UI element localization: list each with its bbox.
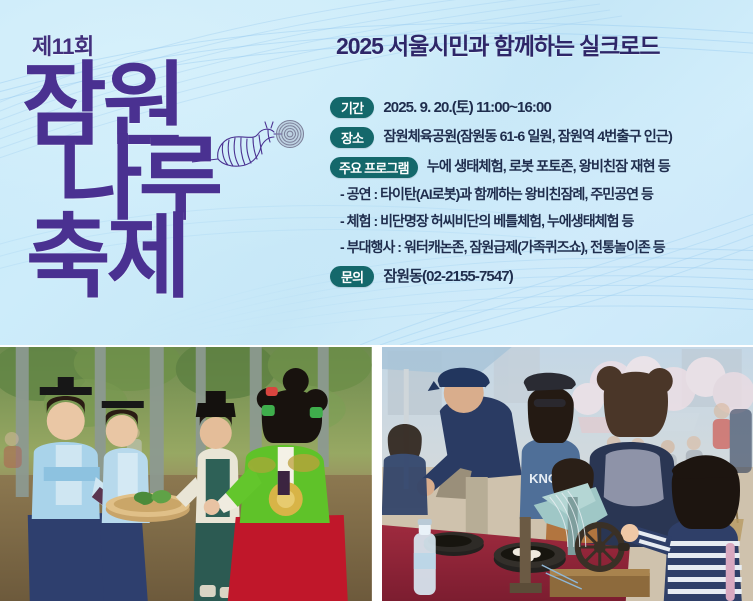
badge-main-programs: 주요 프로그램 [330, 157, 418, 178]
contact-value: 잠원동(02-2155-7547) [383, 269, 513, 286]
info-row-programs: 주요 프로그램 누에 생태체험, 로봇 포토존, 왕비친잠 재현 등 [330, 157, 742, 178]
poster-banner: 제11회 잠원 나루 축제 [0, 0, 753, 345]
poster-photo-strip: KNOW [0, 347, 753, 601]
festival-info-panel: 2025 서울시민과 함께하는 실크로드 기간 2025. 9. 20.(토) … [330, 34, 742, 296]
logo-line-chukje: 축제 [26, 218, 187, 299]
hanbok-royal-sericulture-ceremony-photo [0, 347, 372, 601]
info-row-venue: 장소 잠원체육공원(잠원동 61-6 일원, 잠원역 4번출구 인근) [330, 127, 742, 148]
program-detail-experience: - 체험 : 비단명장 허씨비단의 베틀체험, 누에생태체험 등 [340, 214, 742, 229]
silkworm-cocoon-icon [192, 104, 304, 180]
info-row-contact: 문의 잠원동(02-2155-7547) [330, 266, 742, 287]
main-programs-value: 누에 생태체험, 로봇 포토존, 왕비친잠 재현 등 [427, 160, 670, 176]
program-detail-side-events: - 부대행사 : 워터캐논존, 잠원급제(가족퀴즈쇼), 전통놀이존 등 [340, 240, 742, 255]
venue-value: 잠원체육공원(잠원동 61-6 일원, 잠원역 4번출구 인근) [383, 130, 672, 146]
badge-contact: 문의 [330, 266, 374, 287]
silk-reeling-demonstration-booth-photo: KNOW [382, 347, 753, 601]
program-detail-list: - 공연 : 타이탄(AI로봇)과 함께하는 왕비친잠례, 주민공연 등 - 체… [340, 187, 742, 255]
poster-headline: 2025 서울시민과 함께하는 실크로드 [336, 34, 742, 59]
info-row-period: 기간 2025. 9. 20.(토) 11:00~16:00 [330, 97, 742, 118]
program-detail-performance: - 공연 : 타이탄(AI로봇)과 함께하는 왕비친잠례, 주민공연 등 [340, 187, 742, 202]
badge-period: 기간 [330, 97, 374, 118]
badge-venue: 장소 [330, 127, 374, 148]
info-rows: 기간 2025. 9. 20.(토) 11:00~16:00 장소 잠원체육공원… [330, 97, 742, 287]
festival-logo: 제11회 잠원 나루 축제 [14, 22, 314, 322]
period-value: 2025. 9. 20.(토) 11:00~16:00 [383, 100, 551, 117]
festival-poster: 제11회 잠원 나루 축제 [0, 0, 753, 601]
